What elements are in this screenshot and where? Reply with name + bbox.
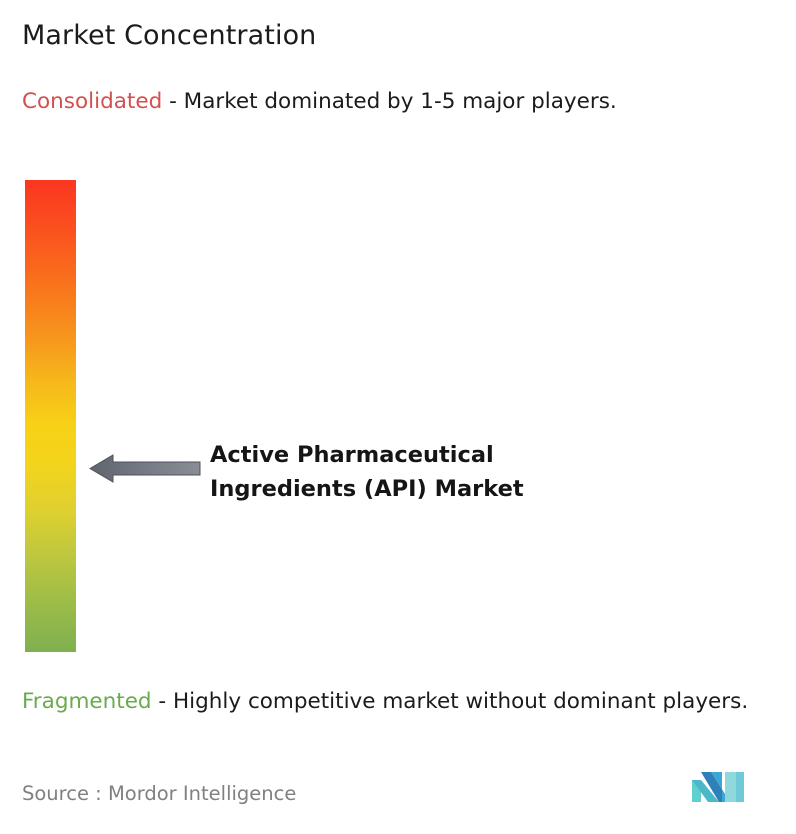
mordor-intelligence-logo xyxy=(692,768,748,806)
legend-fragmented-keyword: Fragmented xyxy=(22,689,152,714)
legend-consolidated-description: - Market dominated by 1-5 major players. xyxy=(162,89,617,114)
legend-consolidated: Consolidated - Market dominated by 1-5 m… xyxy=(22,86,762,117)
legend-fragmented: Fragmented - Highly competitive market w… xyxy=(22,686,790,717)
legend-consolidated-keyword: Consolidated xyxy=(22,89,162,114)
page-title: Market Concentration xyxy=(22,20,316,51)
market-callout-label: Active Pharmaceutical Ingredients (API) … xyxy=(210,438,640,506)
legend-fragmented-description: - Highly competitive market without domi… xyxy=(152,689,749,714)
left-arrow-icon xyxy=(89,453,201,484)
concentration-gradient-bar xyxy=(25,180,76,652)
callout-line-2: Ingredients (API) Market xyxy=(210,472,640,506)
callout-line-1: Active Pharmaceutical xyxy=(210,442,494,468)
source-attribution: Source : Mordor Intelligence xyxy=(22,782,296,805)
